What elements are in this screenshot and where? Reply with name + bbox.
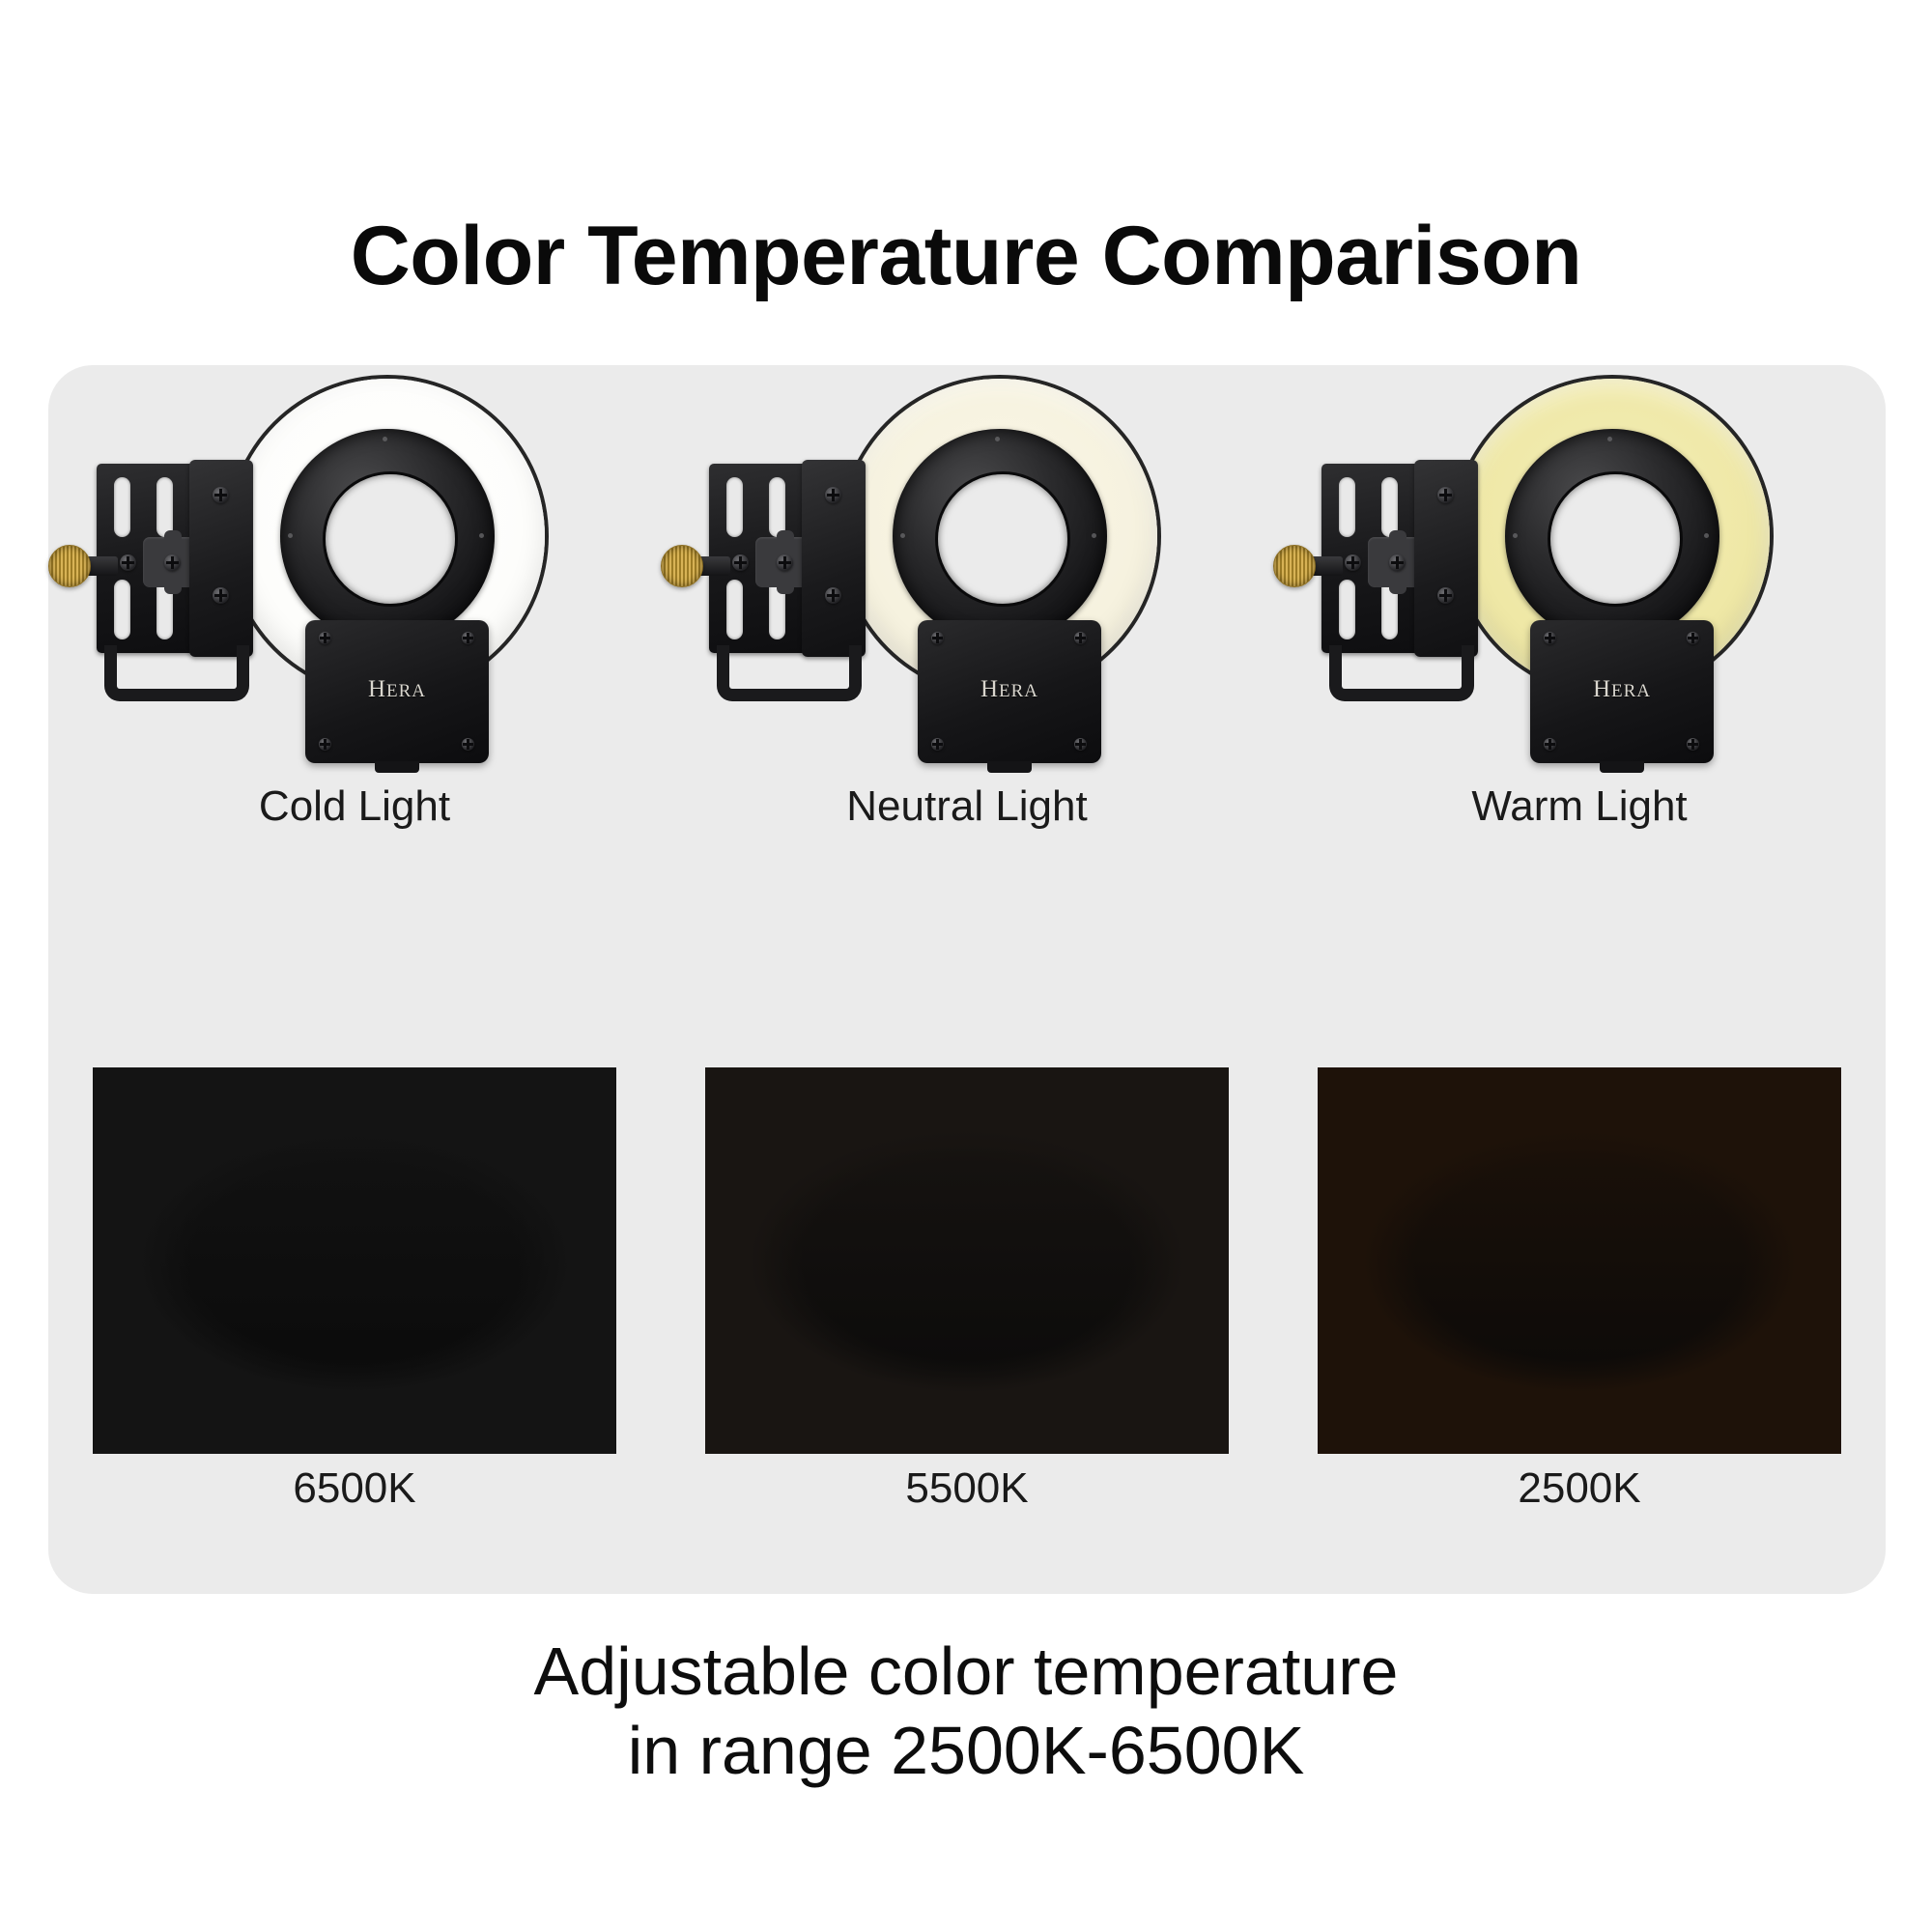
lens-barrel — [1505, 429, 1719, 643]
body-tab — [375, 761, 419, 773]
bracket-clamp-arm — [1329, 645, 1474, 701]
light-type-label: Neutral Light — [661, 782, 1273, 831]
brand-logo: HERA — [918, 676, 1101, 703]
lens-aperture — [1548, 471, 1683, 607]
lens-barrel — [280, 429, 495, 643]
screw-icon — [120, 554, 136, 571]
screw-icon — [1687, 738, 1699, 751]
kelvin-label: 6500K — [48, 1464, 661, 1513]
body-tab — [987, 761, 1032, 773]
screw-icon — [462, 632, 474, 644]
light-type-label: Warm Light — [1273, 782, 1886, 831]
device-body: HERA — [305, 620, 489, 763]
lens-aperture — [935, 471, 1070, 607]
screw-icon — [825, 487, 841, 503]
screw-icon — [1389, 554, 1406, 571]
screw-icon — [462, 738, 474, 751]
device-body: HERA — [918, 620, 1101, 763]
screw-icon — [164, 554, 181, 571]
comparison-column-cold: HERA Cold Light — [48, 365, 661, 1594]
lens-barrel — [893, 429, 1107, 643]
brass-thumbscrew-icon[interactable] — [1273, 545, 1316, 587]
cheek-retractor — [93, 1067, 616, 1454]
screw-icon — [319, 738, 331, 751]
caption-line-1: Adjustable color temperature — [0, 1633, 1932, 1712]
bracket-plate-right — [189, 460, 253, 657]
screw-icon — [1074, 738, 1087, 751]
brand-logo: HERA — [305, 676, 489, 703]
cheek-retractor — [705, 1067, 1229, 1454]
page-title: Color Temperature Comparison — [0, 214, 1932, 298]
mount-bracket — [684, 464, 867, 665]
light-type-label: Cold Light — [48, 782, 661, 831]
bracket-plate-right — [802, 460, 866, 657]
brass-thumbscrew-icon[interactable] — [661, 545, 703, 587]
intraoral-photo-neutral — [705, 1067, 1229, 1454]
screw-icon — [213, 487, 229, 503]
screw-icon — [732, 554, 749, 571]
comparison-column-neutral: HERA Neutral Light — [661, 365, 1273, 1594]
screw-icon — [1687, 632, 1699, 644]
screw-icon — [825, 587, 841, 604]
ring-light-icon: HERA — [661, 379, 1273, 784]
screw-icon — [1074, 632, 1087, 644]
bracket-clamp-arm — [104, 645, 249, 701]
comparison-column-warm: HERA Warm Light — [1273, 365, 1886, 1594]
ring-light-icon: HERA — [1273, 379, 1886, 784]
screw-icon — [931, 738, 944, 751]
mount-bracket — [1296, 464, 1480, 665]
cheek-retractor — [1318, 1067, 1841, 1454]
screw-icon — [1437, 587, 1454, 604]
device-body: HERA — [1530, 620, 1714, 763]
bracket-clamp-arm — [717, 645, 862, 701]
screw-icon — [931, 632, 944, 644]
brand-logo: HERA — [1530, 676, 1714, 703]
caption-line-2: in range 2500K-6500K — [0, 1712, 1932, 1791]
comparison-panel: HERA Cold Light — [48, 365, 1886, 1594]
body-tab — [1600, 761, 1644, 773]
brass-thumbscrew-icon[interactable] — [48, 545, 91, 587]
screw-icon — [319, 632, 331, 644]
bracket-plate-right — [1414, 460, 1478, 657]
mount-bracket — [71, 464, 255, 665]
screw-icon — [1544, 632, 1556, 644]
screw-icon — [213, 587, 229, 604]
caption: Adjustable color temperature in range 25… — [0, 1633, 1932, 1791]
intraoral-photo-warm — [1318, 1067, 1841, 1454]
kelvin-label: 5500K — [661, 1464, 1273, 1513]
screw-icon — [777, 554, 793, 571]
intraoral-photo-cold — [93, 1067, 616, 1454]
screw-icon — [1345, 554, 1361, 571]
screw-icon — [1437, 487, 1454, 503]
screw-icon — [1544, 738, 1556, 751]
ring-light-icon: HERA — [48, 379, 661, 784]
kelvin-label: 2500K — [1273, 1464, 1886, 1513]
lens-aperture — [323, 471, 458, 607]
